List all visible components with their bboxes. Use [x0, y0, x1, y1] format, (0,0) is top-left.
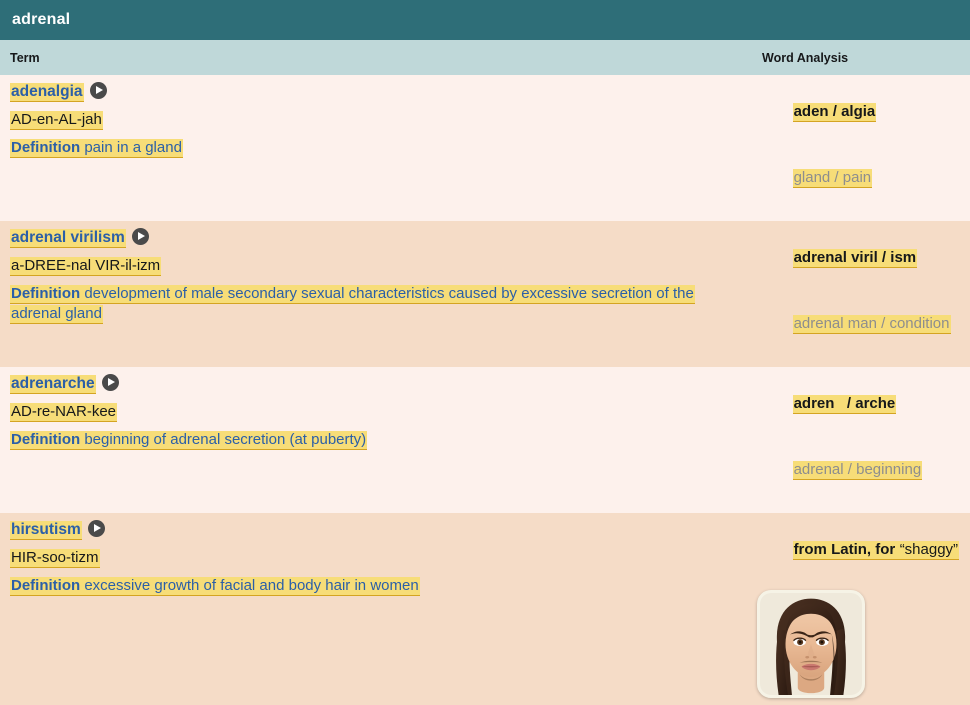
definition-label: Definition: [11, 285, 80, 302]
pronunciation-line: AD-re-NAR-kee: [10, 402, 745, 422]
play-icon[interactable]: [88, 520, 105, 537]
word-origin-lead: from Latin, for: [794, 541, 896, 558]
term-link[interactable]: adrenarche: [10, 375, 96, 394]
column-header-word-analysis: Word Analysis: [762, 51, 848, 65]
pronunciation-text: a-DREE-nal VIR-il-izm: [10, 257, 161, 276]
definition-label: Definition: [11, 431, 80, 448]
play-icon[interactable]: [102, 374, 119, 391]
row-word-analysis-cell: from Latin, for “shaggy”: [745, 513, 970, 705]
word-roots-text: aden / algia: [793, 103, 877, 122]
word-roots-line: adrenal viril / ism: [757, 228, 970, 288]
term-line: adrenal virilism: [10, 228, 745, 248]
word-roots-line: aden / algia: [757, 82, 970, 142]
pronunciation-text: AD-en-AL-jah: [10, 111, 103, 130]
word-origin-term: “shaggy”: [900, 541, 958, 558]
pronunciation-line: HIR-soo-tizm: [10, 548, 745, 568]
word-roots-text: adren / arche: [793, 395, 897, 414]
definition-line: Definition beginning of adrenal secretio…: [10, 430, 745, 450]
term-line: adenalgia: [10, 82, 745, 102]
pronunciation-line: AD-en-AL-jah: [10, 110, 745, 130]
definition-label: Definition: [11, 577, 80, 594]
term-link[interactable]: hirsutism: [10, 521, 82, 540]
term-line: adrenarche: [10, 374, 745, 394]
pronunciation-text: HIR-soo-tizm: [10, 549, 100, 568]
play-icon[interactable]: [132, 228, 149, 245]
definition-text: excessive growth of facial and body hair…: [84, 577, 418, 594]
definition-text: development of male secondary sexual cha…: [11, 285, 694, 322]
word-meaning-text: adrenal man / condition: [793, 315, 951, 334]
definition-text: pain in a gland: [84, 139, 182, 156]
page-title: adrenal: [12, 11, 70, 29]
row-term-cell: adenalgia AD-en-AL-jah Definition pain i…: [0, 75, 745, 221]
play-icon[interactable]: [90, 82, 107, 99]
table-row: hirsutism HIR-soo-tizm Definition excess…: [0, 513, 970, 705]
term-line: hirsutism: [10, 520, 745, 540]
definition-label: Definition: [11, 139, 80, 156]
definition-text: beginning of adrenal secretion (at puber…: [84, 431, 366, 448]
definition-line: Definition excessive growth of facial an…: [10, 576, 745, 596]
word-meaning-line: adrenal man / condition: [757, 294, 970, 354]
column-header-term: Term: [10, 51, 40, 65]
term-illustration-thumbnail[interactable]: [757, 590, 865, 698]
row-term-cell: adrenal virilism a-DREE-nal VIR-il-izm D…: [0, 221, 745, 367]
row-term-cell: hirsutism HIR-soo-tizm Definition excess…: [0, 513, 745, 705]
definition-line: Definition pain in a gland: [10, 138, 745, 158]
word-meaning-line: adrenal / beginning: [757, 440, 970, 500]
word-meaning-line: gland / pain: [757, 148, 970, 208]
word-origin-line: from Latin, for “shaggy”: [757, 520, 970, 580]
row-word-analysis-cell: aden / algia gland / pain: [745, 75, 970, 221]
definition-line: Definition development of male secondary…: [10, 284, 745, 324]
term-link[interactable]: adrenal virilism: [10, 229, 126, 248]
word-meaning-text: adrenal / beginning: [793, 461, 923, 480]
term-link[interactable]: adenalgia: [10, 83, 84, 102]
row-word-analysis-cell: adren / arche adrenal / beginning: [745, 367, 970, 513]
row-word-analysis-cell: adrenal viril / ism adrenal man / condit…: [745, 221, 970, 367]
window-title-bar: adrenal: [0, 0, 970, 40]
hirsutism-face-illustration: [760, 593, 862, 695]
word-roots-line: adren / arche: [757, 374, 970, 434]
table-row: adrenal virilism a-DREE-nal VIR-il-izm D…: [0, 221, 970, 367]
table-row: adrenarche AD-re-NAR-kee Definition begi…: [0, 367, 970, 513]
row-term-cell: adrenarche AD-re-NAR-kee Definition begi…: [0, 367, 745, 513]
pronunciation-line: a-DREE-nal VIR-il-izm: [10, 256, 745, 276]
word-roots-text: adrenal viril / ism: [793, 249, 918, 268]
table-column-header: Term Word Analysis: [0, 40, 970, 75]
word-meaning-text: gland / pain: [793, 169, 873, 188]
term-table-body: adenalgia AD-en-AL-jah Definition pain i…: [0, 75, 970, 705]
table-row: adenalgia AD-en-AL-jah Definition pain i…: [0, 75, 970, 221]
pronunciation-text: AD-re-NAR-kee: [10, 403, 117, 422]
